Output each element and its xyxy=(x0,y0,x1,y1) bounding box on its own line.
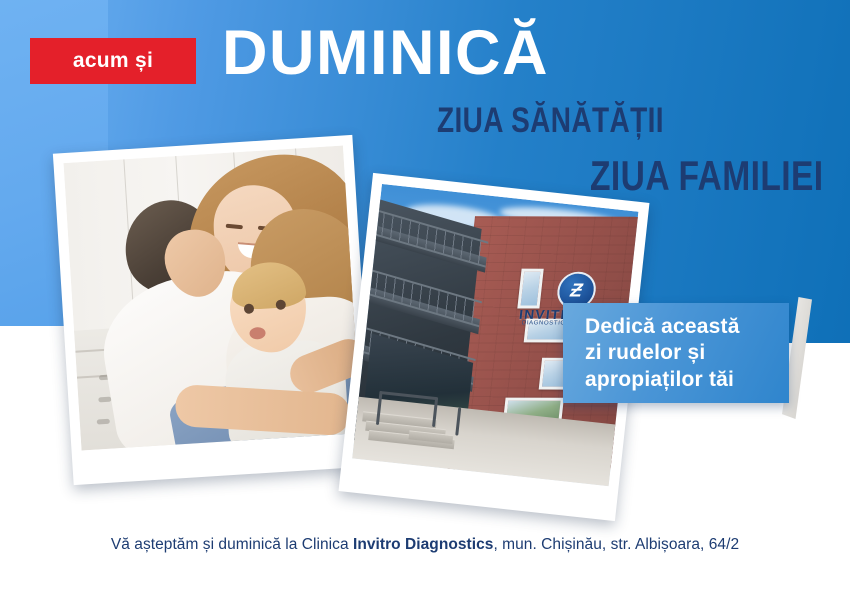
invitro-logo-glyph: Ƶ xyxy=(568,281,586,300)
headline-ziua-familiei: ZIUA FAMILIEI xyxy=(590,155,824,197)
footer-address: Vă așteptăm și duminică la Clinica Invit… xyxy=(0,536,850,554)
badge-acum-si: acum și xyxy=(30,38,196,84)
badge-acum-si-label: acum și xyxy=(73,49,153,73)
promo-banner: acum și DUMINICĂ ZIUA SĂNĂTĂȚII ZIUA FAM… xyxy=(0,0,850,600)
headline-duminica: DUMINICĂ xyxy=(222,22,549,85)
photo-family-image xyxy=(63,146,361,451)
callout-line-2: zi rudelor și xyxy=(585,340,773,366)
footer-prefix: Vă așteptăm și duminică la Clinica xyxy=(111,536,353,553)
callout-line-1: Dedică această xyxy=(585,314,773,340)
footer-brand: Invitro Diagnostics xyxy=(353,536,493,553)
callout-dedica: Dedică această zi rudelor și apropiațilo… xyxy=(563,303,789,403)
footer-suffix: , mun. Chișinău, str. Albișoara, 64/2 xyxy=(493,536,739,553)
callout-line-3: apropiaților tăi xyxy=(585,367,773,393)
headline-ziua-sanatatii: ZIUA SĂNĂTĂȚII xyxy=(437,103,664,138)
photo-family xyxy=(53,135,373,485)
